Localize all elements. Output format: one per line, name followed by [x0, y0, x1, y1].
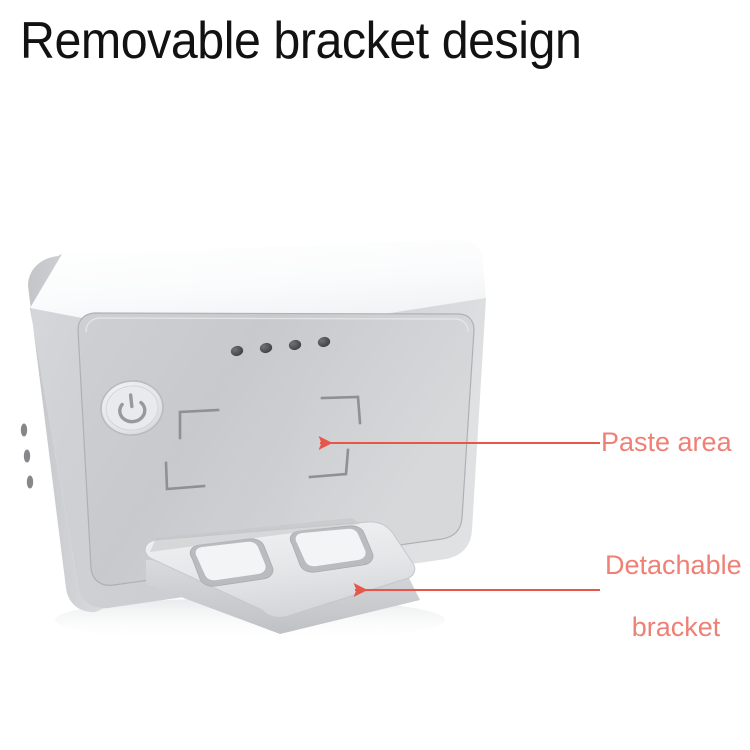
product-illustration [0, 180, 620, 680]
callout-label-detachable-bracket: Detachable bracket [605, 550, 747, 642]
side-hole [27, 476, 33, 489]
page-title: Removable bracket design [20, 12, 690, 70]
callout-label-paste-area: Paste area [601, 427, 732, 457]
callout-label-detachable-line-2: bracket [605, 612, 747, 642]
side-holes [21, 424, 33, 489]
callout-label-detachable-line-1: Detachable [605, 550, 747, 580]
product-image-canvas: Removable bracket design [0, 0, 750, 750]
side-hole [24, 450, 30, 463]
side-hole [21, 424, 27, 437]
